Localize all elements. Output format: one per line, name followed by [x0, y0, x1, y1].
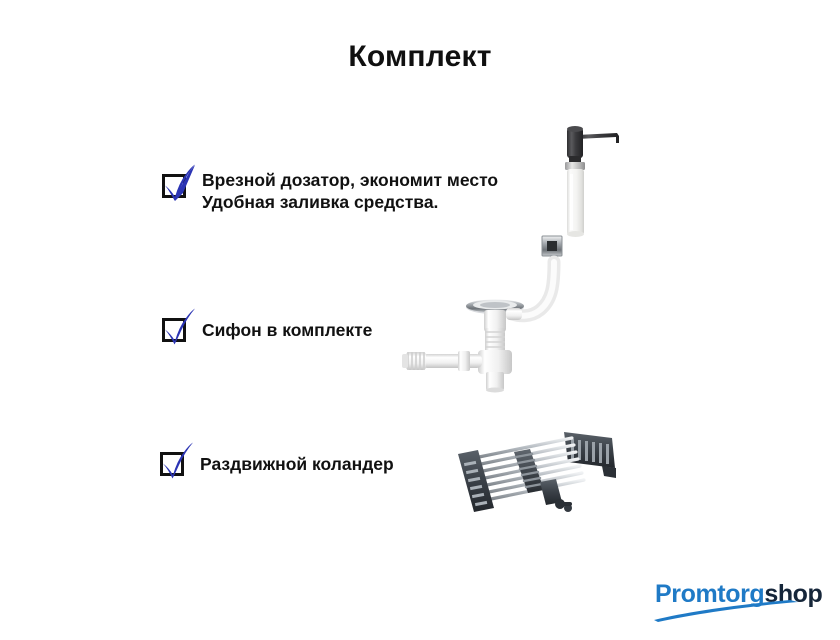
checkbox-checked-dispenser — [160, 163, 198, 203]
extendable-colander-image — [452, 424, 624, 525]
feature-row-siphon: Сифон в комплекте — [160, 307, 372, 347]
blue-checkmark-icon — [160, 307, 198, 347]
brand-logo[interactable]: Promtorgshop — [650, 578, 825, 624]
product-feature-infographic: { "page": { "background_color": "#ffffff… — [0, 0, 840, 640]
sink-siphon-image — [400, 228, 605, 398]
page-title: Комплект — [0, 40, 840, 74]
checkbox-checked-siphon — [160, 307, 198, 347]
soap-dispenser-image — [545, 112, 665, 245]
feature-row-colander: Раздвижной коландер — [158, 441, 394, 481]
checkbox-checked-colander — [158, 441, 196, 481]
feature-label-siphon: Сифон в комплекте — [202, 307, 372, 341]
brand-swoosh-icon — [650, 600, 825, 624]
feature-row-dispenser: Врезной дозатор, экономит место Удобная … — [160, 163, 498, 213]
blue-checkmark-icon — [158, 441, 196, 481]
feature-label-colander: Раздвижной коландер — [200, 441, 394, 475]
blue-checkmark-icon — [160, 163, 198, 203]
feature-label-dispenser: Врезной дозатор, экономит место Удобная … — [202, 163, 498, 213]
